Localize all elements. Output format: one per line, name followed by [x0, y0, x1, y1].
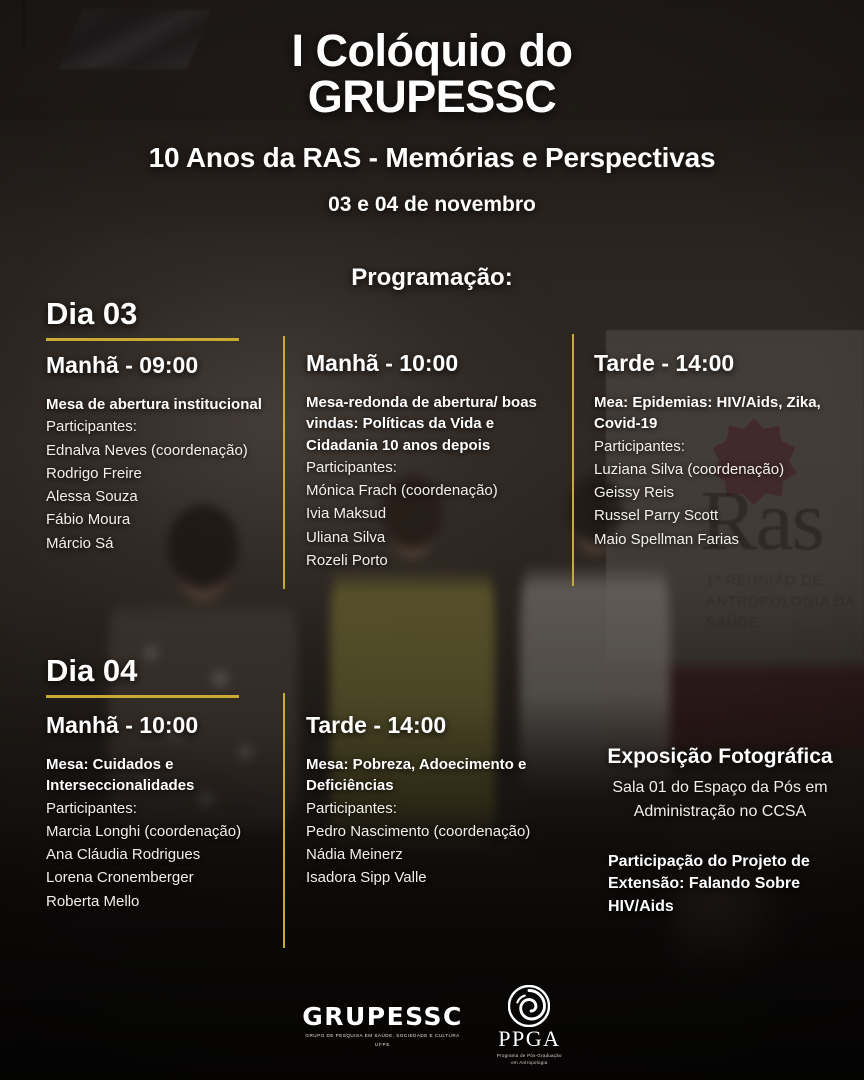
session-d04-tarde-14: Tarde - 14:00 Mesa: Pobreza, Adoecimento…: [306, 712, 568, 890]
title-line-1: I Colóquio do: [0, 28, 864, 74]
event-poster: Ras 1ª REUNIÃO DE ANTROPOLOGIA DA SAÚDE …: [0, 0, 864, 1080]
session-time: Manhã - 10:00: [46, 712, 286, 739]
grupessc-subtitle: GRUPO DE PESQUISA EM SAÚDE, SOCIEDADE E …: [302, 1033, 463, 1040]
ppga-subtitle-line-1: Programa de Pós-Graduação: [497, 1052, 562, 1059]
exposicao-location-line-1: Sala 01 do Espaço da Pós em: [580, 776, 860, 800]
exposicao-location: Sala 01 do Espaço da Pós em Administraçã…: [580, 776, 860, 825]
programacao-heading: Programação:: [0, 264, 864, 292]
column-divider: [572, 334, 574, 586]
title-block: I Colóquio do GRUPESSC 10 Anos da RAS - …: [0, 28, 864, 217]
participant-name: Maio Spellman Farias: [594, 528, 849, 551]
participant-name: Geissy Reis: [594, 481, 849, 504]
session-time: Tarde - 14:00: [306, 712, 568, 739]
session-title: Mesa: Pobreza, Adoecimento e Deficiência…: [306, 754, 568, 797]
session-title: Mesa de abertura institucional: [46, 394, 278, 415]
participant-name: Fábio Moura: [46, 508, 278, 531]
day-label: Dia 03: [46, 298, 239, 329]
participant-name: Márcio Sá: [46, 532, 278, 555]
participant-name: Ana Cláudia Rodrigues: [46, 843, 286, 866]
ppga-subtitle: Programa de Pós-Graduação em Antropologi…: [497, 1052, 562, 1066]
title-line-2: GRUPESSC: [0, 74, 864, 120]
page-subtitle: 10 Anos da RAS - Memórias e Perspectivas: [0, 142, 864, 174]
participant-name: Ednalva Neves (coordenação): [46, 439, 278, 462]
session-title: Mesa: Cuidados e Interseccionalidades: [46, 754, 286, 797]
event-dates: 03 e 04 de novembro: [0, 193, 864, 217]
session-title: Mea: Epidemias: HIV/Aids, Zika, Covid-19: [594, 392, 849, 435]
day-heading-03: Dia 03: [46, 298, 239, 341]
participant-name: Marcia Longhi (coordenação): [46, 820, 286, 843]
participant-name: Rozeli Porto: [306, 549, 568, 572]
column-divider: [283, 336, 285, 589]
session-title: Mesa-redonda de abertura/ boas vindas: P…: [306, 392, 568, 456]
participant-name: Uliana Silva: [306, 526, 568, 549]
participants-label: Participantes:: [306, 456, 568, 479]
ppga-spiral-icon: [508, 985, 550, 1027]
page-title: I Colóquio do GRUPESSC: [0, 28, 864, 120]
participant-name: Luziana Silva (coordenação): [594, 458, 849, 481]
poster-content: I Colóquio do GRUPESSC 10 Anos da RAS - …: [0, 0, 864, 1080]
session-time: Manhã - 09:00: [46, 352, 278, 379]
session-d04-manha-10: Manhã - 10:00 Mesa: Cuidados e Intersecc…: [46, 712, 286, 913]
session-time: Tarde - 14:00: [594, 350, 849, 377]
ppga-subtitle-line-2: em Antropologia: [497, 1059, 562, 1066]
participant-name: Russel Parry Scott: [594, 504, 849, 527]
session-d03-manha-10: Manhã - 10:00 Mesa-redonda de abertura/ …: [306, 350, 568, 572]
day-underline-rule: [46, 338, 239, 341]
participants-label: Participantes:: [306, 797, 568, 820]
session-time: Manhã - 10:00: [306, 350, 568, 377]
participant-name: Mónica Frach (coordenação): [306, 479, 568, 502]
footer-logos: GRUPESSC GRUPO DE PESQUISA EM SAÚDE, SOC…: [0, 985, 864, 1066]
grupessc-wordmark: GRUPESSC: [302, 1004, 463, 1029]
session-d03-manha-09: Manhã - 09:00 Mesa de abertura instituci…: [46, 352, 278, 555]
participant-name: Ivia Maksud: [306, 502, 568, 525]
exposicao-location-line-2: Administração no CCSA: [580, 800, 860, 824]
day-underline-rule: [46, 695, 239, 698]
ppga-wordmark: PPGA: [497, 1028, 562, 1050]
participant-name: Roberta Mello: [46, 890, 286, 913]
projeto-extensao-note: Participação do Projeto de Extensão: Fal…: [580, 851, 860, 919]
grupessc-org: UFPE: [302, 1042, 463, 1047]
exposicao-block: Exposição Fotográfica Sala 01 do Espaço …: [580, 745, 860, 919]
session-d03-tarde-14: Tarde - 14:00 Mea: Epidemias: HIV/Aids, …: [594, 350, 849, 551]
participant-name: Lorena Cronemberger: [46, 866, 286, 889]
day-label: Dia 04: [46, 655, 239, 686]
participant-name: Isadora Sipp Valle: [306, 866, 568, 889]
participant-name: Nádia Meinerz: [306, 843, 568, 866]
exposicao-title: Exposição Fotográfica: [580, 745, 860, 769]
participant-name: Alessa Souza: [46, 485, 278, 508]
participant-name: Rodrigo Freire: [46, 462, 278, 485]
participant-name: Pedro Nascimento (coordenação): [306, 820, 568, 843]
ppga-logo: PPGA Programa de Pós-Graduação em Antrop…: [497, 985, 562, 1066]
participants-label: Participantes:: [594, 435, 849, 458]
day-heading-04: Dia 04: [46, 655, 239, 698]
grupessc-logo: GRUPESSC GRUPO DE PESQUISA EM SAÚDE, SOC…: [302, 1004, 463, 1047]
participants-label: Participantes:: [46, 797, 286, 820]
participants-label: Participantes:: [46, 415, 278, 438]
